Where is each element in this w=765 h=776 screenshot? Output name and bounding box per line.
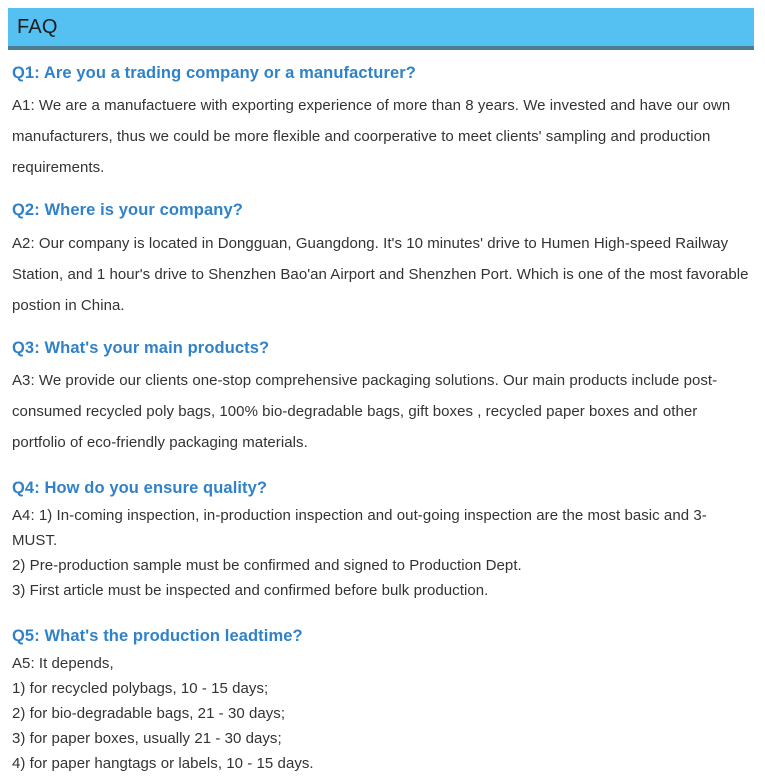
faq-item-q4: Q4: How do you ensure quality? A4: 1) In… bbox=[12, 477, 754, 603]
faq-header-banner: FAQ bbox=[8, 8, 754, 50]
faq-item-q3: Q3: What's your main products? A3: We pr… bbox=[12, 337, 754, 458]
faq-answer-line: A4: 1) In-coming inspection, in-producti… bbox=[12, 503, 752, 553]
faq-answer-q3: A3: We provide our clients one-stop comp… bbox=[12, 365, 752, 458]
faq-answer-q1: A1: We are a manufactuere with exporting… bbox=[12, 90, 752, 183]
faq-answer-line: A5: It depends, bbox=[12, 651, 752, 676]
faq-answer-q5: A5: It depends,1) for recycled polybags,… bbox=[12, 651, 752, 776]
faq-question-q4: Q4: How do you ensure quality? bbox=[12, 477, 754, 499]
faq-answer-q2: A2: Our company is located in Dongguan, … bbox=[12, 228, 752, 321]
faq-answer-line: 2) for bio-degradable bags, 21 - 30 days… bbox=[12, 701, 752, 726]
faq-question-q2: Q2: Where is your company? bbox=[12, 199, 754, 221]
faq-question-q1: Q1: Are you a trading company or a manuf… bbox=[12, 62, 754, 84]
faq-answer-line: 4) for paper hangtags or labels, 10 - 15… bbox=[12, 751, 752, 776]
faq-question-q5: Q5: What's the production leadtime? bbox=[12, 625, 754, 647]
faq-item-q1: Q1: Are you a trading company or a manuf… bbox=[12, 62, 754, 183]
faq-item-q2: Q2: Where is your company? A2: Our compa… bbox=[12, 199, 754, 320]
faq-answer-line: 1) for recycled polybags, 10 - 15 days; bbox=[12, 676, 752, 701]
faq-answer-line: 3) First article must be inspected and c… bbox=[12, 578, 752, 603]
faq-item-q5: Q5: What's the production leadtime? A5: … bbox=[12, 625, 754, 776]
page-title: FAQ bbox=[17, 17, 58, 37]
faq-page: FAQ Q1: Are you a trading company or a m… bbox=[0, 0, 765, 748]
faq-answer-line: 2) Pre-production sample must be confirm… bbox=[12, 553, 752, 578]
faq-answer-q4: A4: 1) In-coming inspection, in-producti… bbox=[12, 503, 752, 603]
faq-list: Q1: Are you a trading company or a manuf… bbox=[12, 62, 754, 776]
faq-question-q3: Q3: What's your main products? bbox=[12, 337, 754, 359]
